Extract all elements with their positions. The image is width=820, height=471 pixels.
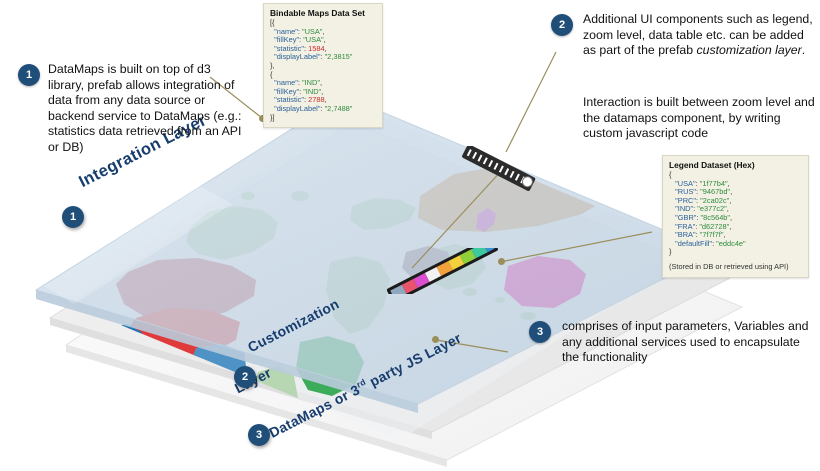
- callout-text-1: comprises of input parameters, Variables…: [562, 319, 814, 366]
- callout-badge-1[interactable]: 3: [529, 321, 551, 343]
- bindable-dataset-box: Bindable Maps Data Set [{ "name": "USA",…: [263, 3, 383, 128]
- plane-badge-1[interactable]: 3: [248, 424, 270, 446]
- callout-badge-2[interactable]: 2: [551, 14, 573, 36]
- bindable-dataset-code: [{ "name": "USA", "fillKey": "USA", "sta…: [264, 19, 382, 127]
- callout-2-emphasis: customization layer: [696, 43, 801, 57]
- bindable-dataset-title: Bindable Maps Data Set: [264, 4, 382, 19]
- callout-3-body: DataMaps is built on top of d3 library, …: [48, 62, 241, 154]
- color-legend-strip[interactable]: [380, 248, 505, 294]
- callout-text-2: Additional UI components such as legend,…: [583, 12, 815, 59]
- legend-dataset-code: { "USA": "1f77b4", "RUS": "9467bd", "PRC…: [663, 171, 808, 262]
- diagram-canvas: Integration Layer Customization Layer Da…: [0, 0, 820, 471]
- legend-dataset-footnote: (Stored in DB or retrieved using API): [663, 262, 808, 277]
- plane-badge-3[interactable]: 1: [62, 206, 84, 228]
- callout-text-2-secondary: Interaction is built between zoom level …: [583, 95, 815, 142]
- legend-dataset-title: Legend Dataset (Hex): [663, 156, 808, 171]
- plane-badge-2[interactable]: 2: [234, 366, 256, 388]
- legend-dataset-box: Legend Dataset (Hex) { "USA": "1f77b4", …: [662, 155, 809, 278]
- zoom-level-slider[interactable]: [452, 146, 544, 192]
- callout-2-body-end: .: [802, 43, 805, 57]
- callout-badge-3[interactable]: 1: [18, 64, 40, 86]
- callout-text-3: DataMaps is built on top of d3 library, …: [48, 62, 248, 156]
